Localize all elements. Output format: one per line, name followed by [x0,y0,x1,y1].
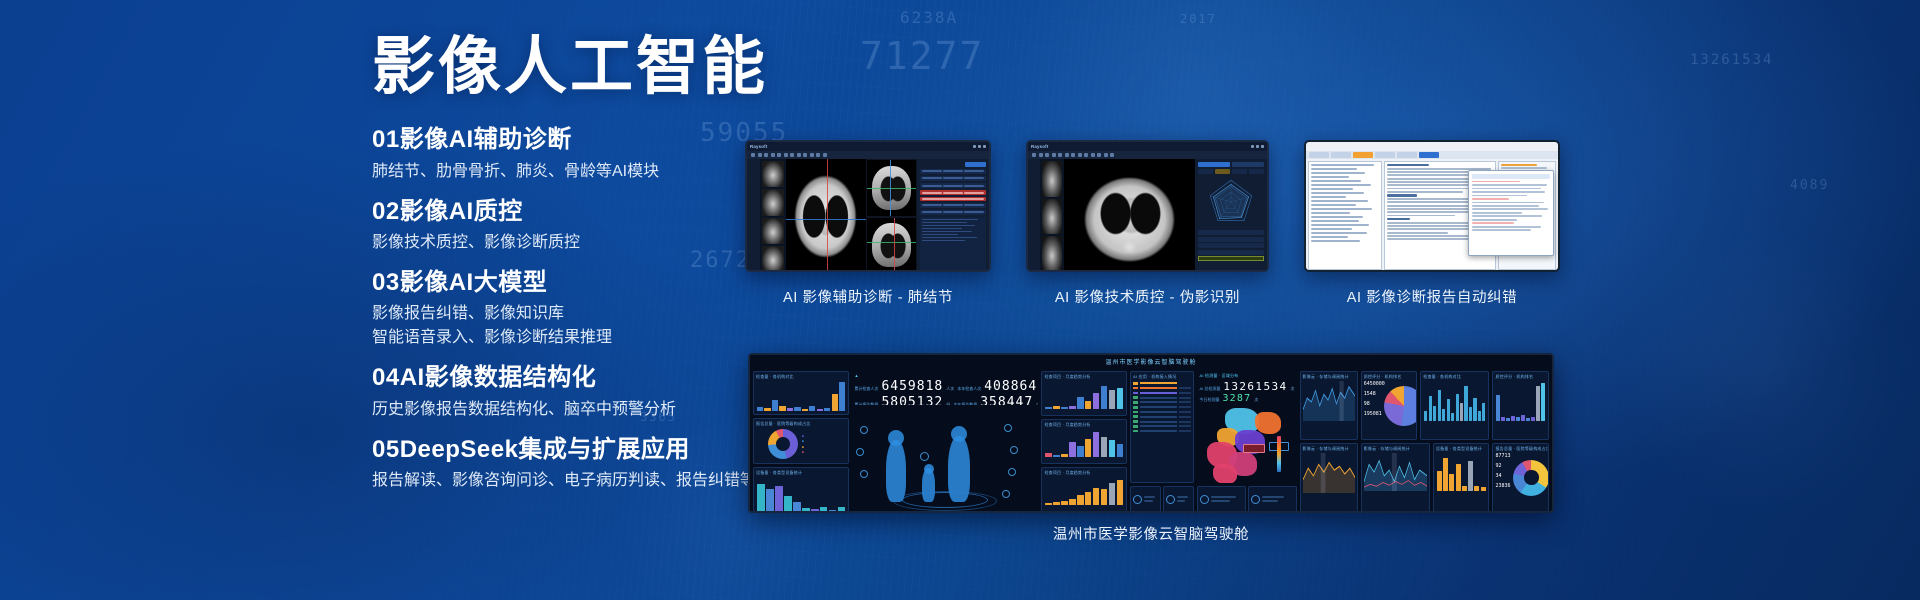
ranking-row [1133,396,1191,399]
viewer-body [747,159,989,272]
dashboard-column-left: 检查量 · 各机构对比 报告总量 · 医院等级构成占比 [753,371,849,512]
panel-title: AI 检测量 · 区域分布 [1199,373,1294,379]
panel-qc-rank-bars[interactable]: 质控评分 · 机构排名 [1492,371,1549,440]
viewer-body [1028,159,1267,272]
panel-hologram-visual [852,408,1038,512]
figure-adult-left [886,440,906,502]
qc-score-panel[interactable] [1195,159,1267,272]
ranking-row [1133,387,1191,390]
panel-title: 检查量 · 各机构对比 [1423,374,1486,380]
app-titlebar: Raysoft [747,142,989,151]
panel-ai-compare-bars[interactable]: 检查量 · 各机构对比 [1420,371,1489,440]
finding-row-highlighted[interactable] [920,190,986,196]
screenshot-caption: AI 影像诊断报告自动纠错 [1304,286,1560,307]
stat-row: AI 总检测量 13261534 次 [1199,380,1294,393]
finding-row-highlighted[interactable] [920,197,986,201]
dashboard-row-bottom: 影像云 · 存储与调阅统计 设备量 · 各类型设备统计 [1361,443,1549,512]
dashboard-caption: 温州市医学影像云智脑驾驶舱 [748,523,1554,544]
stat-label: 本年检查人次 [957,386,981,392]
panel-title: 报告总量 · 医院等级构成占比 [756,421,846,427]
ct-sagittal-view[interactable] [866,217,917,273]
ct-axial-view[interactable] [786,159,866,272]
panel-device-statistics[interactable]: 设备量 · 各类型设备统计 [753,467,849,512]
ct-coronal-view[interactable] [866,159,917,217]
finding-row[interactable] [920,183,986,189]
hologram-node-icon [860,426,868,434]
bg-number: 71277 [860,34,984,78]
kpi-card[interactable] [1248,486,1297,512]
shield-icon [1251,495,1260,504]
nodule-findings-panel[interactable] [917,159,989,272]
panel-storage-pie[interactable]: 质控评分 · 机构排名 6450000 1548 98 195081 [1361,371,1418,440]
ct-axial-view[interactable] [1064,159,1195,272]
qc-issue-row [1198,250,1264,255]
panel-modality-donut[interactable]: 报告总量 · 医院等级构成占比 87713 92 34 23836 [1492,443,1549,512]
findings-description [920,217,986,271]
qc-issue-row-highlighted [1198,256,1264,261]
panel-title: 设备量 · 各类型设备统计 [756,470,846,476]
feature-subtitle: 影像报告纠错、影像知识库 智能语音录入、影像诊断结果推理 [372,302,842,350]
stat-unit: 人次 [946,386,954,392]
stat-value: 358447 [980,395,1033,405]
panel-hospital-level-share[interactable]: 报告总量 · 医院等级构成占比 [753,418,849,464]
bar-chart [1044,477,1124,505]
region-map[interactable] [1199,406,1294,483]
panel-exam-type-bars[interactable]: 设备量 · 各类型设备统计 [1433,443,1490,512]
ranking-row [1133,382,1191,385]
ranking-row [1133,406,1191,409]
line-chart [1303,381,1355,421]
map-legend-gradient [1277,436,1281,472]
app-titlebar [1306,142,1558,151]
dashboard-title: 温州市医学影像云智脑驾驶舱 [1105,357,1196,366]
ai-correction-popup[interactable] [1468,170,1554,256]
panel-monthly-trend-b[interactable]: 检查项目 · 月度趋势分析 [1041,419,1127,464]
line-chart [1303,453,1355,493]
stat-row: 累计检查人次 6459818 人次 本年检查人次 408864 人次 [854,379,1036,394]
line-chart [1364,453,1427,491]
dashboard-column-trends: 检查项目 · 月度趋势分析 检查项目 · 月度趋势分析 [1041,371,1127,512]
hologram-node-icon [920,452,929,461]
kpi-card[interactable] [1130,486,1161,512]
stat-row: 今日检测量 3287 次 [1199,393,1294,404]
hologram-node-icon [1010,446,1018,454]
panel-title: 检查量 · 各机构对比 [756,374,846,380]
panel-title: 检查项目 · 月度趋势分析 [1044,422,1124,428]
app-toolbar[interactable] [1028,151,1267,159]
window-controls[interactable] [973,145,986,148]
ranking-row [1133,420,1191,423]
dashboard-grid: 检查量 · 各机构对比 报告总量 · 医院等级构成占比 [750,368,1552,513]
panel-filter-buttons[interactable] [1198,169,1264,174]
kpi-row [1197,486,1296,512]
screenshot-image-report-correction [1304,140,1560,272]
bar-chart [756,477,846,512]
finding-row[interactable] [920,210,986,216]
screenshot-caption: AI 影像辅助诊断 - 肺结节 [745,286,991,307]
dashboard-column-ranking: AI 应用 · 机构接入情况 [1130,371,1194,512]
app-brand-label: Raysoft [1031,144,1049,149]
screenshot-image-lung-nodule: Raysoft [745,140,991,272]
dashboard-row-top: 质控评分 · 机构排名 6450000 1548 98 195081 [1361,371,1549,440]
panel-title: 报告总量 · 医院等级构成占比 [1495,446,1513,452]
bar-chart [1436,453,1487,491]
qc-radar-chart [1198,176,1264,228]
series-thumbnail-list[interactable] [760,159,786,272]
finding-row[interactable] [920,176,986,182]
bar-chart [756,381,846,411]
bg-number: 6238A [900,8,958,27]
app-titlebar: Raysoft [1028,142,1267,151]
panel-action-buttons[interactable] [920,162,986,167]
hospital-icon [1133,495,1142,504]
stat-value: 13261534 [1223,380,1287,393]
app-toolbar[interactable] [747,151,989,159]
screenshot-card-artifact-qc[interactable]: Raysoft [1026,140,1269,272]
banner-root: 71277 59055 6238A 26722 13261534 4089 20… [0,0,1920,600]
panel-title: 设备量 · 各类型设备统计 [1436,446,1487,452]
device-icon [1166,495,1175,504]
dashboard-column-map: AI 检测量 · 区域分布 AI 总检测量 13261534 次 今日检测量 3… [1197,371,1296,512]
finding-row[interactable] [920,203,986,209]
panel-cloud-retrieval-trend[interactable]: 影像云 · 存储与调阅统计 [1300,443,1358,512]
qc-issue-row [1198,230,1264,235]
qc-issue-row [1198,237,1264,242]
stat-unit: 次 [1291,386,1295,392]
panel-ai-institution-access[interactable]: AI 应用 · 机构接入情况 [1130,371,1194,483]
brain-icon [1200,495,1209,504]
stat-unit: 份 [1036,402,1038,405]
panel-monthly-trend-a[interactable]: 检查项目 · 月度趋势分析 [1041,371,1127,416]
dashboard-column-sparklines: 影像云 · 存储与调阅统计 影像云 · 存储与调阅统计 [1300,371,1358,512]
kpi-row [1130,486,1194,512]
dashboard-caption-wrap: 温州市医学影像云智脑驾驶舱 [748,523,1554,544]
stat-unit: 份 [946,402,950,405]
panel-tab-buttons[interactable] [1198,162,1264,167]
dashboard-header: 温州市医学影像云智脑驾驶舱 [750,355,1552,368]
dashboard-column-center: ▲ 累计检查人次 6459818 人次 本年检查人次 408864 人次 累计报… [852,371,1038,512]
ranking-row [1133,415,1191,418]
ranking-list[interactable] [1133,381,1191,432]
stat-label: AI 总检测量 [1199,386,1220,392]
kpi-card[interactable] [1163,486,1194,512]
kpi-card[interactable] [1197,486,1246,512]
stat-label: 累计检查人次 [854,386,878,392]
panel-title: 影像云 · 存储与调阅统计 [1303,374,1355,380]
panel-key-metrics: ▲ 累计检查人次 6459818 人次 本年检查人次 408864 人次 累计报… [852,371,1038,405]
screenshot-card-lung-nodule[interactable]: Raysoft [745,140,991,272]
stat-label: 累计报告数量 [854,402,878,405]
series-thumbnail-list[interactable] [1040,159,1064,272]
page-title: 影像人工智能 [372,34,842,100]
tool-rail[interactable] [1028,159,1040,272]
correction-item [1472,181,1520,183]
finding-row[interactable] [920,169,986,175]
stat-label: 今日检测量 [1199,397,1219,403]
donut-chart [1513,446,1549,509]
hologram-node-icon [860,470,868,478]
map-tooltip [1243,444,1265,453]
panel-title: 影像云 · 存储与调阅统计 [1364,446,1427,452]
correction-item [1472,198,1509,200]
bar-chart [1044,381,1124,409]
image-viewport[interactable] [786,159,917,272]
popup-header [1472,174,1550,179]
bg-number: 13261534 [1690,52,1773,68]
dashboard-screenshot: 温州市医学影像云智脑驾驶舱 检查量 · 各机构对比 [748,353,1554,513]
ranking-row [1133,401,1191,404]
stat-value: 6459818 [881,379,943,394]
panel-title: 检查项目 · 月度趋势分析 [1044,374,1124,380]
pie-chart [1384,374,1418,437]
worklist-tree[interactable] [1308,161,1382,270]
panel-title: 检查项目 · 月度趋势分析 [1044,470,1124,476]
hologram-node-icon [1002,490,1010,498]
hologram-node-icon [1008,468,1016,476]
panel-title: 影像云 · 存储与调阅统计 [1303,446,1355,452]
panel-institution-volume[interactable]: 检查量 · 各机构对比 [753,371,849,415]
stat-value: 3287 [1222,393,1251,404]
ranking-row [1133,392,1191,395]
dashboard-column-right: 质控评分 · 机构排名 6450000 1548 98 195081 [1361,371,1549,512]
bar-chart [1423,381,1486,421]
ranking-row [1133,411,1191,414]
ranking-row [1133,430,1191,433]
panel-ai-daily-trend[interactable]: 影像云 · 存储与调阅统计 [1300,371,1358,440]
ranking-row [1133,425,1191,428]
panel-title: 质控评分 · 机构排名 [1495,374,1546,380]
qc-issue-list[interactable] [1198,230,1264,271]
bg-number: 2017 [1180,12,1217,26]
correction-item [1472,222,1514,224]
app-tab-strip[interactable] [1306,151,1558,159]
stat-label: 本年报告数量 [953,402,977,405]
qc-issue-row [1198,243,1264,248]
panel-title: AI 应用 · 机构接入情况 [1133,374,1191,380]
screenshot-caption: AI 影像技术质控 - 伪影识别 [1026,286,1269,307]
panel-retrieval-area[interactable]: 影像云 · 存储与调阅统计 [1361,443,1430,512]
window-controls[interactable] [1251,145,1264,148]
screenshot-image-artifact-qc: Raysoft [1026,140,1269,272]
dashboard-card[interactable]: 温州市医学影像云智脑驾驶舱 检查量 · 各机构对比 [748,353,1554,513]
stat-value: 408864 [984,379,1037,394]
screenshot-card-report-correction[interactable]: AI 影像诊断报告自动纠错 [1304,140,1560,272]
pie-chart [756,428,846,460]
stat-value: 5805132 [881,395,943,405]
hologram-node-icon [1004,424,1012,432]
panel-title: 质控评分 · 机构排名 [1364,374,1384,380]
app-brand-label: Raysoft [750,144,768,149]
bar-chart [1495,381,1546,421]
hologram-node-icon [856,448,864,456]
stat-unit: 次 [1254,397,1258,403]
feature-subtitle-line: 智能语音录入、影像诊断结果推理 [372,326,842,350]
ct-secondary-views [866,159,917,272]
bar-chart [1044,429,1124,457]
stat-row: 累计报告数量 5805132 份 本年报告数量 358447 份 [854,395,1036,405]
tool-rail[interactable] [747,159,760,272]
panel-monthly-trend-c[interactable]: 检查项目 · 月度趋势分析 [1041,467,1127,512]
bg-number: 4089 [1790,178,1829,193]
panel-ai-region-map[interactable]: AI 检测量 · 区域分布 AI 总检测量 13261534 次 今日检测量 3… [1197,371,1296,483]
feature-item-03: 03影像AI大模型 影像报告纠错、影像知识库 智能语音录入、影像诊断结果推理 [372,267,842,350]
